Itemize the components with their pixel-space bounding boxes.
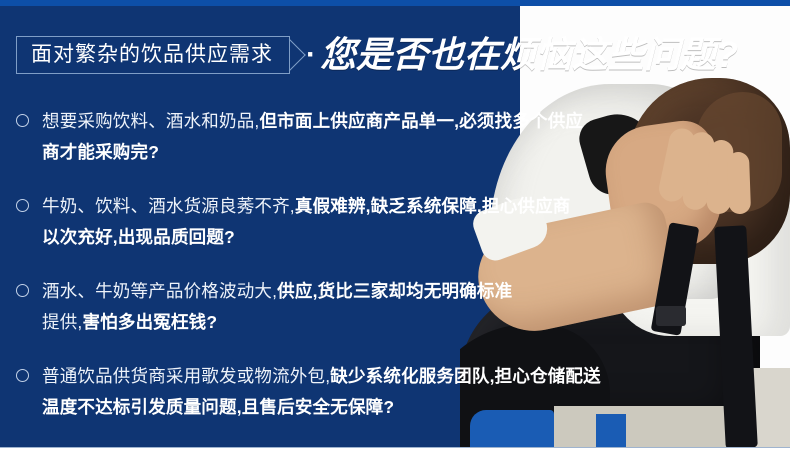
text-bold: 真假难辨,缺乏系统保障,担心供应商 xyxy=(295,196,571,216)
top-accent-stripe xyxy=(0,0,790,6)
list-item-text: 酒水、牛奶等产品价格波动大,供应,货比三家却均无明确标准 提供,害怕多出冤枉钱? xyxy=(42,276,512,338)
text-bold: 商才能采购完? xyxy=(42,142,159,162)
header-row: 面对繁杂的饮品供应需求 · 您是否也在烦恼这些问题? xyxy=(16,36,738,74)
text-light: 普通饮品供货商采用歌发或物流外包, xyxy=(42,366,330,386)
banner-content: 面对繁杂的饮品供应需求 · 您是否也在烦恼这些问题? 想要采购饮料、酒水和奶品,… xyxy=(0,6,640,448)
ring-marker-icon xyxy=(16,369,29,382)
page-title: 您是否也在烦恼这些问题? xyxy=(320,37,738,73)
chair-panel-right xyxy=(752,368,790,448)
text-bold: 缺少系统化服务团队,担心仓储配送 xyxy=(330,366,601,386)
tag-arrow-icon xyxy=(273,39,306,72)
text-bold: 害怕多出冤枉钱? xyxy=(82,312,217,332)
ring-marker-icon xyxy=(16,114,29,127)
text-bold: 温度不达标引发质量问题,且售后安全无保障? xyxy=(42,397,394,417)
figure-suspender-clip xyxy=(656,306,686,326)
list-item: 牛奶、饮料、酒水货源良莠不齐,真假难辨,缺乏系统保障,担心供应商 以次充好,出现… xyxy=(16,191,616,253)
text-bold: 以次充好,出现品质回题? xyxy=(42,227,235,247)
list-item: 想要采购饮料、酒水和奶品,但市面上供应商产品单一,必须找多个供应 商才能采购完? xyxy=(16,106,616,168)
ring-marker-icon xyxy=(16,284,29,297)
list-item: 普通饮品供货商采用歌发或物流外包,缺少系统化服务团队,担心仓储配送 温度不达标引… xyxy=(16,361,616,423)
tag-label: 面对繁杂的饮品供应需求 xyxy=(31,44,273,65)
promo-banner: 面对繁杂的饮品供应需求 · 您是否也在烦恼这些问题? 想要采购饮料、酒水和奶品,… xyxy=(0,0,790,460)
text-bold: 但市面上供应商产品单一,必须找多个供应 xyxy=(259,111,583,131)
list-item-text: 普通饮品供货商采用歌发或物流外包,缺少系统化服务团队,担心仓储配送 温度不达标引… xyxy=(42,361,601,423)
tag-box: 面对繁杂的饮品供应需求 xyxy=(16,36,290,74)
text-light: 提供, xyxy=(42,312,82,332)
list-item-text: 想要采购饮料、酒水和奶品,但市面上供应商产品单一,必须找多个供应 商才能采购完? xyxy=(42,106,583,168)
text-light: 酒水、牛奶等产品价格波动大, xyxy=(42,281,277,301)
bottom-divider xyxy=(0,447,790,460)
problem-list: 想要采购饮料、酒水和奶品,但市面上供应商产品单一,必须找多个供应 商才能采购完?… xyxy=(16,106,616,446)
dot-separator: · xyxy=(306,40,316,70)
list-item: 酒水、牛奶等产品价格波动大,供应,货比三家却均无明确标准 提供,害怕多出冤枉钱? xyxy=(16,276,616,338)
text-light: 牛奶、饮料、酒水货源良莠不齐, xyxy=(42,196,295,216)
figure-finger xyxy=(727,152,751,215)
ring-marker-icon xyxy=(16,199,29,212)
text-bold: 供应,货比三家却均无明确标准 xyxy=(277,281,512,301)
text-light: 想要采购饮料、酒水和奶品, xyxy=(42,111,259,131)
list-item-text: 牛奶、饮料、酒水货源良莠不齐,真假难辨,缺乏系统保障,担心供应商 以次充好,出现… xyxy=(42,191,571,253)
